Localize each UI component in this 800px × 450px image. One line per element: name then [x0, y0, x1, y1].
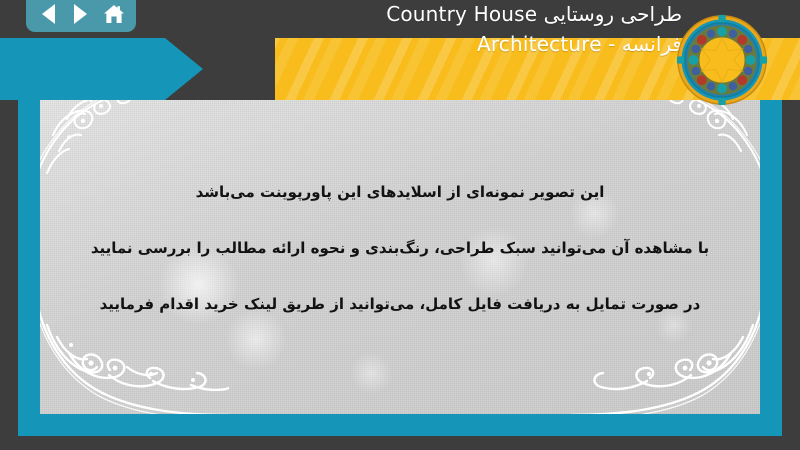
body-line-1: این تصویر نمونه‌ای از اسلایدهای این پاور…	[74, 178, 726, 206]
forward-button[interactable]	[68, 1, 94, 27]
content-frame: این تصویر نمونه‌ای از اسلایدهای این پاور…	[18, 52, 782, 436]
content-area: این تصویر نمونه‌ای از اسلایدهای این پاور…	[40, 74, 760, 414]
slide-root: بررسی طراحی معماری خانه دِ مِن؛ طراحی رو…	[0, 0, 800, 450]
slide-body: این تصویر نمونه‌ای از اسلایدهای این پاور…	[40, 150, 760, 346]
navigation-toolbar	[26, 0, 136, 32]
body-line-2: با مشاهده آن می‌توانید سبک طراحی، رنگ‌بن…	[74, 234, 726, 262]
page-title: بررسی طراحی معماری خانه دِ مِن؛ طراحی رو…	[162, 0, 682, 59]
mandala-medallion-icon	[676, 14, 768, 106]
back-arrow-icon	[42, 4, 55, 24]
home-button[interactable]	[101, 1, 127, 27]
body-line-3: در صورت تمایل به دریافت فایل کامل، می‌تو…	[74, 290, 726, 318]
home-icon	[103, 4, 125, 24]
forward-arrow-icon	[74, 4, 87, 24]
back-button[interactable]	[35, 1, 61, 27]
